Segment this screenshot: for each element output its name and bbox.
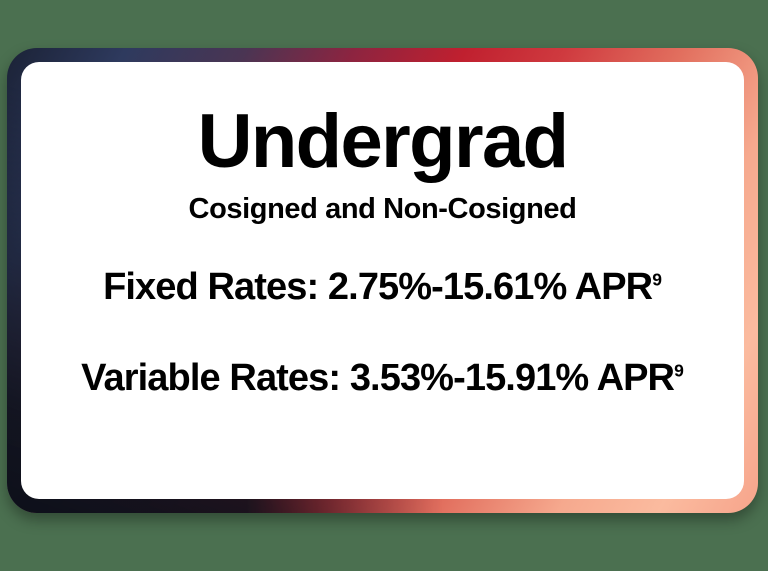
undergrad-rate-card: Undergrad Cosigned and Non-Cosigned Fixe… bbox=[7, 48, 758, 513]
card-content: Undergrad Cosigned and Non-Cosigned Fixe… bbox=[21, 62, 744, 499]
fixed-rate-label: Fixed Rates: bbox=[103, 266, 318, 308]
page-root: Undergrad Cosigned and Non-Cosigned Fixe… bbox=[0, 0, 768, 571]
page-title: Undergrad bbox=[198, 102, 568, 182]
variable-rate-footnote-marker: 9 bbox=[674, 360, 684, 380]
variable-rate-unit: APR bbox=[597, 357, 675, 399]
fixed-rate-footnote-marker: 9 bbox=[652, 269, 662, 289]
fixed-rate-line: Fixed Rates: 2.75%-15.61% APR9 bbox=[103, 266, 662, 309]
fixed-rate-range: 2.75%-15.61% bbox=[328, 266, 566, 308]
variable-rate-line: Variable Rates: 3.53%-15.91% APR9 bbox=[81, 357, 684, 400]
fixed-rate-unit: APR bbox=[575, 266, 653, 308]
variable-rate-label: Variable Rates: bbox=[81, 357, 340, 399]
variable-rate-range: 3.53%-15.91% bbox=[350, 357, 588, 399]
card-subtitle: Cosigned and Non-Cosigned bbox=[189, 193, 577, 226]
